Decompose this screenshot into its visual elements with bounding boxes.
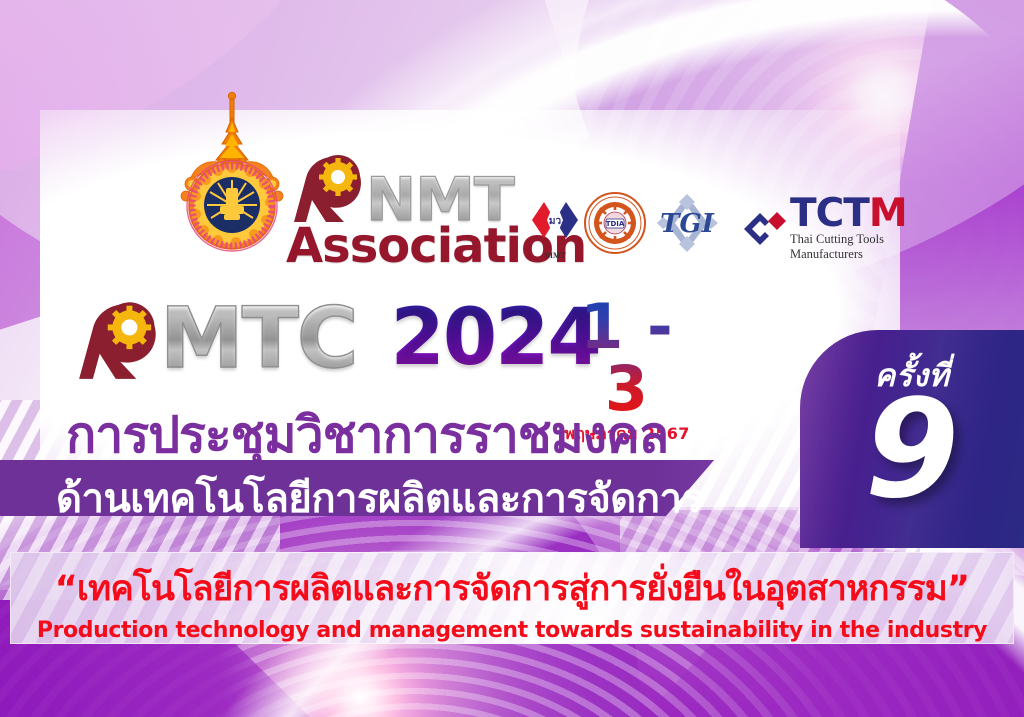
tctm-diamond-icon: [734, 203, 786, 255]
theme-text-english: Production technology and management tow…: [11, 618, 1013, 643]
rmtc-headline: MTC 2024: [70, 288, 600, 388]
mtc-acronym: MTC: [160, 289, 357, 387]
nimt-abbr: มว: [549, 216, 562, 227]
conference-poster: NMT Association มว NIMT: [0, 0, 1024, 717]
tctm-caption: Thai Cutting Tools Manufacturers: [790, 232, 960, 262]
nimt-caption: NIMT: [528, 251, 582, 260]
nmt-association-logo: NMT Association: [286, 150, 524, 258]
r-gear-logo-icon: [70, 292, 166, 388]
edition-panel: ครั้งที่ 9: [800, 330, 1024, 548]
tctm-logo: TCTM Thai Cutting Tools Manufacturers: [734, 196, 960, 262]
nmt-association-label: Association: [286, 222, 524, 270]
theme-text-thai: “เทคโนโลยีการผลิตและการจัดการสู่การยั่งย…: [11, 561, 1013, 616]
tctm-wordmark-part2: M: [869, 191, 907, 236]
page-subtitle-thai: ด้านเทคโนโลยีการผลิตและการจัดการ: [56, 466, 702, 530]
edition-number: 9: [800, 382, 1024, 518]
nimt-logo: มว NIMT: [528, 194, 582, 260]
tgi-abbr: TGI: [660, 209, 715, 239]
theme-bar: “เทคโนโลยีการผลิตและการจัดการสู่การยั่งย…: [10, 552, 1014, 644]
tdia-abbr: TDIA: [606, 220, 625, 228]
rmutp-seal-icon: [168, 88, 296, 258]
tdia-logo: TDIA: [584, 192, 646, 259]
tgi-logo: TGI: [652, 192, 722, 259]
logos-row: NMT Association มว NIMT: [0, 88, 1024, 268]
tctm-wordmark-part1: TCT: [790, 191, 869, 236]
r-gear-logo-icon: [286, 150, 370, 226]
